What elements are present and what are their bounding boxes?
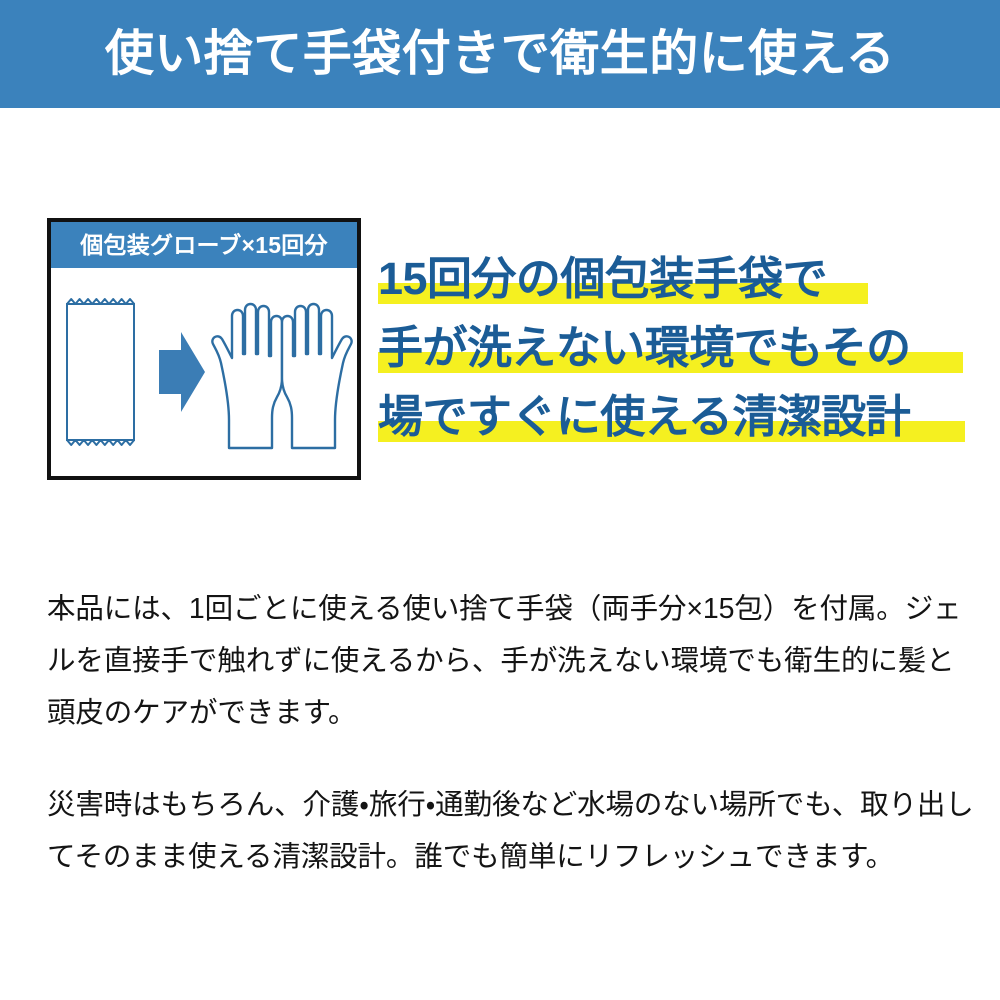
body-paragraph-2-wrapper: 災害時はもちろん、介護・旅行・通勤後など水場のない場所でも、取り出してそのまま使… — [47, 750, 977, 911]
headline-text-1: 15回分の個包装手袋で — [378, 256, 827, 301]
headline-line-1: 15回分の個包装手袋で — [378, 247, 978, 310]
page-title: 使い捨て手袋付きで衛生的に使える — [105, 30, 895, 79]
illustration-caption-label: 個包装グローブ×15回分 — [80, 234, 327, 257]
header-banner: 使い捨て手袋付きで衛生的に使える — [0, 0, 1000, 108]
headline-text-3: 場ですぐに使える清潔設計 — [378, 394, 910, 439]
right-arrow-icon — [159, 332, 205, 412]
illustration-caption-bar: 個包装グローブ×15回分 — [51, 222, 357, 268]
sachet-icon — [67, 299, 134, 445]
glove-right-icon — [282, 304, 352, 448]
body-paragraph-1-wrapper: 本品には、1回ごとに使える使い捨て手袋（両手分×15包）を付属。ジェルを直接手で… — [47, 554, 977, 767]
headline-line-2: 手が洗えない環境でもその — [378, 316, 978, 379]
glove-illustration-svg — [51, 268, 357, 476]
glove-left-icon — [212, 304, 282, 448]
body-paragraph-1: 本品には、1回ごとに使える使い捨て手袋（両手分×15包）を付属。ジェルを直接手で… — [47, 583, 977, 739]
body-paragraph-2: 災害時はもちろん、介護・旅行・通勤後など水場のない場所でも、取り出してそのまま使… — [47, 779, 977, 883]
headline-line-3: 場ですぐに使える清潔設計 — [378, 385, 978, 448]
illustration-card: 個包装グローブ×15回分 — [47, 218, 361, 480]
headline-block: 15回分の個包装手袋で 手が洗えない環境でもその 場ですぐに使える清潔設計 — [378, 247, 978, 454]
illustration-body — [51, 268, 357, 476]
headline-text-2: 手が洗えない環境でもその — [378, 325, 911, 370]
